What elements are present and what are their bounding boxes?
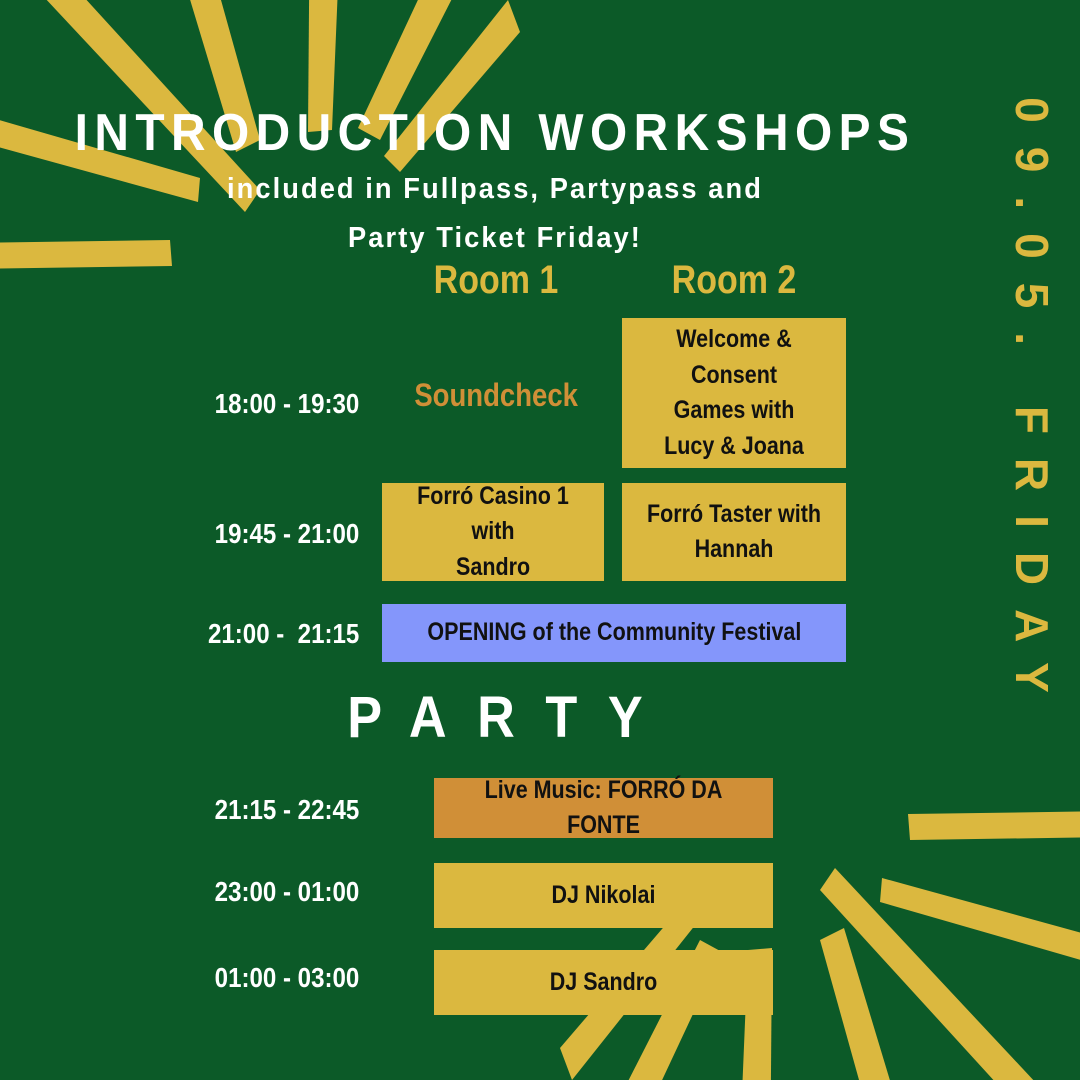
schedule-grid: Room 1 Room 2 18:00 - 19:30 Soundcheck W… [0,0,990,1080]
session-room1-row-1: Soundcheck [382,374,610,418]
time-label-party-2: 23:00 - 01:00 [203,876,360,908]
session-live-music: Live Music: FORRÓ DA FONTE [434,778,773,838]
column-header-room-2: Room 2 [639,258,829,303]
party-heading: PARTY [50,684,941,751]
column-header-room-1: Room 1 [399,258,593,303]
date-strip-text: 09.05. FRIDAY [1005,97,1059,717]
time-label-party-3: 01:00 - 03:00 [203,962,360,994]
date-strip: 09.05. FRIDAY [984,0,1080,1080]
time-label-party-1: 21:15 - 22:45 [203,794,360,826]
time-label-row-1: 18:00 - 19:30 [203,388,360,420]
session-room2-row-1: Welcome & Consent Games with Lucy & Joan… [622,318,846,468]
time-label-row-2: 19:45 - 21:00 [203,518,360,550]
session-opening-row-3: OPENING of the Community Festival [382,604,846,662]
session-room2-row-2: Forró Taster with Hannah [622,483,846,581]
poster-canvas: 09.05. FRIDAY INTRODUCTION WORKSHOPS inc… [0,0,1080,1080]
session-room1-row-2: Forró Casino 1 with Sandro [382,483,604,581]
time-label-row-3: 21:00 - 21:15 [203,618,360,650]
session-dj-nikolai: DJ Nikolai [434,863,773,928]
session-dj-sandro: DJ Sandro [434,950,773,1015]
